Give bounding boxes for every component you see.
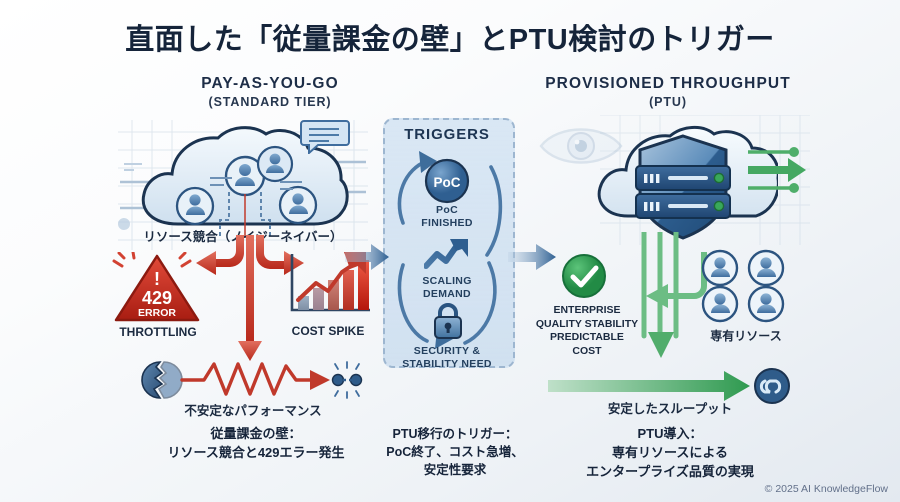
ptu-benefit-label: ENTERPRISE QUALITY STABILITY PREDICTABLE… <box>528 304 646 359</box>
trigger-label-security: SECURITY & STABILITY NEED <box>383 345 511 370</box>
payg-heading: PAY-AS-YOU-GO <box>140 75 400 93</box>
payg-subheading: (STANDARD TIER) <box>140 95 400 109</box>
column-header-payg: PAY-AS-YOU-GO (STANDARD TIER) <box>140 75 400 109</box>
caption-left: 従量課金の壁： リソース競合と429エラー発生 <box>128 425 384 463</box>
cost-spike-label: COST SPIKE <box>276 324 380 338</box>
infographic-canvas: 直面した「従量課金の壁」とPTU検討のトリガー PAY-AS-YOU-GO (S… <box>0 0 900 502</box>
ptu-heading: PROVISIONED THROUGHPUT <box>518 75 818 93</box>
throughput-out-arrows <box>748 142 810 198</box>
error-429-throttling-icon: ! 429 ERROR <box>112 252 202 324</box>
poc-badge-text: PoC <box>434 175 461 190</box>
trigger-label-poc: PoC FINISHED <box>383 204 511 229</box>
unstable-performance-waveform <box>138 358 364 402</box>
chat-bubble-icon <box>300 118 350 154</box>
lock-icon <box>432 302 464 340</box>
throttling-label: THROTTLING <box>108 325 208 339</box>
trigger-label-scaling: SCALING DEMAND <box>383 275 511 300</box>
flow-arrow-out-of-triggers <box>508 244 556 270</box>
error-code-text: 429 <box>142 288 172 308</box>
copyright-notice: © 2025 AI KnowledgeFlow <box>765 483 888 495</box>
stable-throughput-label: 安定したスループット <box>548 398 792 417</box>
broken-link-icon <box>333 362 362 398</box>
success-check-icon <box>561 253 607 299</box>
flow-arrow-into-triggers <box>345 244 389 270</box>
unstable-performance-label: 不安定なパフォーマンス <box>138 400 368 419</box>
column-header-ptu: PROVISIONED THROUGHPUT (PTU) <box>518 75 818 109</box>
page-title: 直面した「従量課金の壁」とPTU検討のトリガー <box>0 16 900 58</box>
caption-right: PTU導入： 専有リソースによる エンタープライズ品質の実現 <box>540 425 800 482</box>
broken-sphere-icon <box>142 362 182 398</box>
poc-badge-icon: PoC <box>424 158 470 204</box>
triggers-title: TRIGGERS <box>383 126 511 143</box>
dedicated-users-icon <box>698 248 792 324</box>
caption-center: PTU移行のトリガー： PoC終了、コスト急増、 安定性要求 <box>372 425 538 479</box>
ptu-subheading: (PTU) <box>518 95 818 109</box>
scaling-arrow-icon <box>424 236 470 270</box>
dedicated-resources-label: 専有リソース <box>692 327 800 344</box>
error-word-text: ERROR <box>138 307 176 319</box>
error-exclamation-glyph: ! <box>154 269 160 289</box>
